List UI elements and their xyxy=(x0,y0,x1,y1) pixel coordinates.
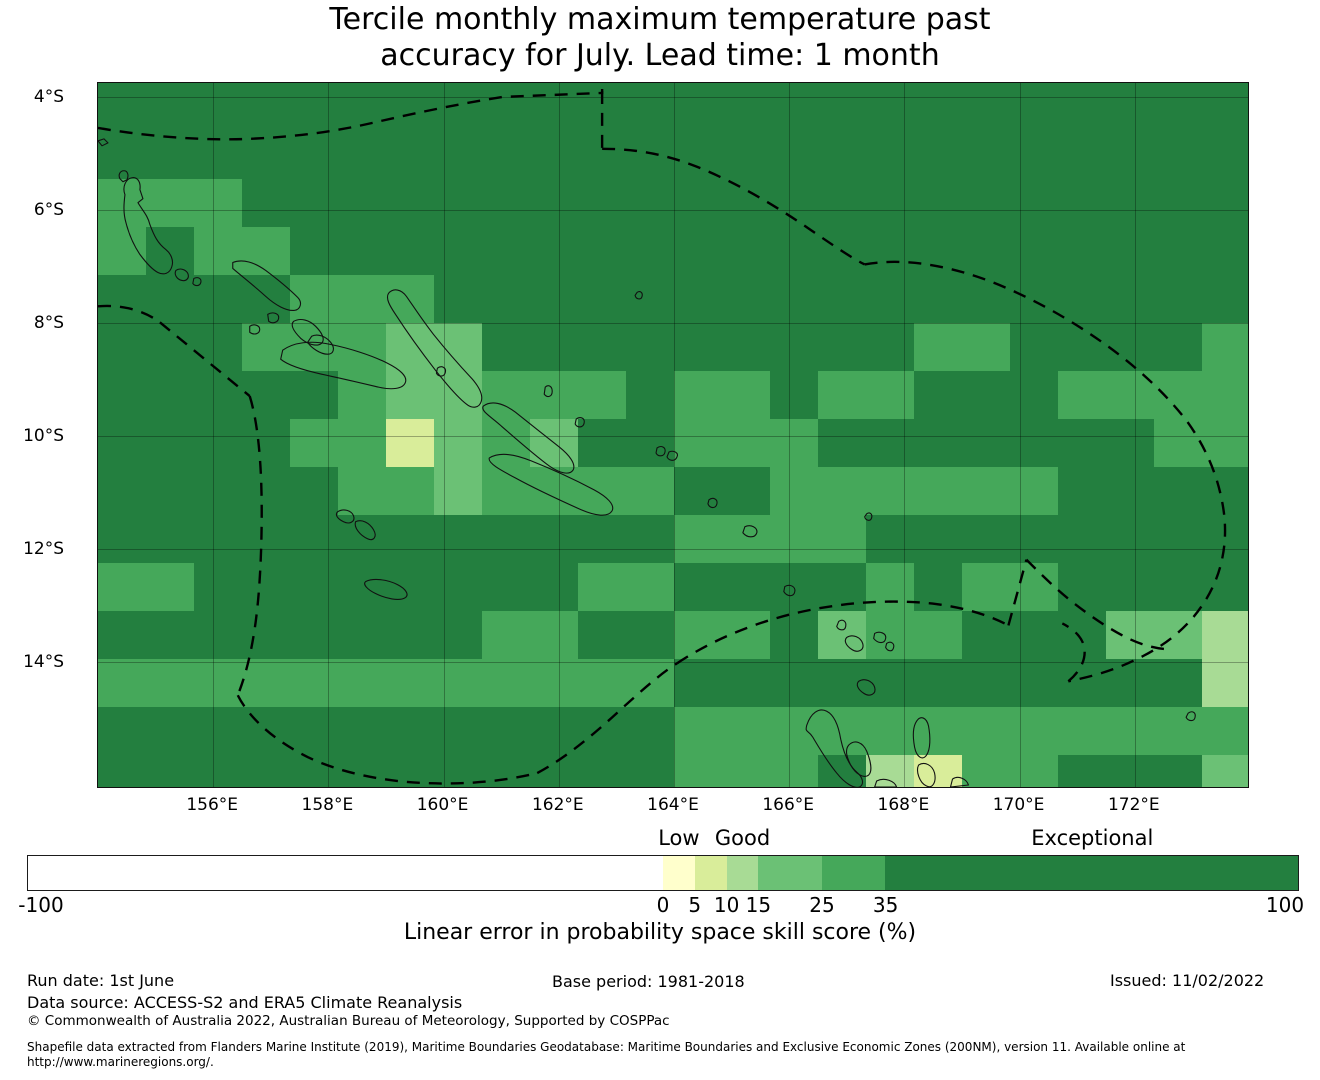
footer-copyright: © Commonwealth of Australia 2022, Austra… xyxy=(27,1013,670,1029)
colorbar-tick-label: 35 xyxy=(816,893,956,917)
x-axis-tick-label: 168°E xyxy=(843,795,963,815)
y-axis-tick-label: 12°S xyxy=(0,539,64,559)
colorbar-category-labels: LowGoodExceptional xyxy=(0,826,1320,852)
colorbar-category-label: Good xyxy=(613,826,873,850)
footer-base-period: Base period: 1981-2018 xyxy=(552,972,745,991)
colorbar-segment[interactable] xyxy=(663,856,695,890)
colorbar-segment[interactable] xyxy=(28,856,663,890)
colorbar-segment[interactable] xyxy=(885,856,1298,890)
map-panel-wrapper xyxy=(97,82,1249,788)
x-axis-tick-label: 160°E xyxy=(383,795,503,815)
colorbar[interactable] xyxy=(27,855,1299,891)
colorbar-tick-label: -100 xyxy=(0,893,111,917)
y-axis-tick-label: 10°S xyxy=(0,426,64,446)
x-axis-tick-label: 158°E xyxy=(267,795,387,815)
y-axis-tick-label: 4°S xyxy=(0,87,64,107)
x-axis-tick-label: 164°E xyxy=(613,795,733,815)
x-axis-tick-label: 170°E xyxy=(959,795,1079,815)
colorbar-segment[interactable] xyxy=(727,856,759,890)
x-axis-tick-label: 156°E xyxy=(152,795,272,815)
colorbar-segment[interactable] xyxy=(822,856,886,890)
colorbar-tick-labels: -1000510152535100 xyxy=(0,893,1320,919)
colorbar-tick-label: 100 xyxy=(1215,893,1320,917)
footer-run-date: Run date: 1st June xyxy=(27,971,174,990)
x-axis-tick-label: 172°E xyxy=(1074,795,1194,815)
x-axis-tick-label: 162°E xyxy=(498,795,618,815)
x-axis-tick-label: 166°E xyxy=(728,795,848,815)
colorbar-axis-label: Linear error in probability space skill … xyxy=(0,920,1320,945)
y-axis-tick-label: 6°S xyxy=(0,200,64,220)
colorbar-segment[interactable] xyxy=(758,856,822,890)
page-title: Tercile monthly maximum temperature past… xyxy=(0,2,1320,74)
y-axis-tick-label: 14°S xyxy=(0,652,64,672)
eez-boundary-layer xyxy=(98,83,1248,787)
footer-shapefile-attribution: Shapefile data extracted from Flanders M… xyxy=(27,1040,1227,1070)
footer-issued-date: Issued: 11/02/2022 xyxy=(1110,971,1264,990)
map-panel[interactable] xyxy=(97,82,1249,788)
colorbar-segment[interactable] xyxy=(695,856,727,890)
figure-canvas: Tercile monthly maximum temperature past… xyxy=(0,0,1320,1080)
footer-data-source: Data source: ACCESS-S2 and ERA5 Climate … xyxy=(27,993,462,1012)
y-axis-tick-label: 8°S xyxy=(0,313,64,333)
colorbar-category-label: Exceptional xyxy=(962,826,1222,850)
